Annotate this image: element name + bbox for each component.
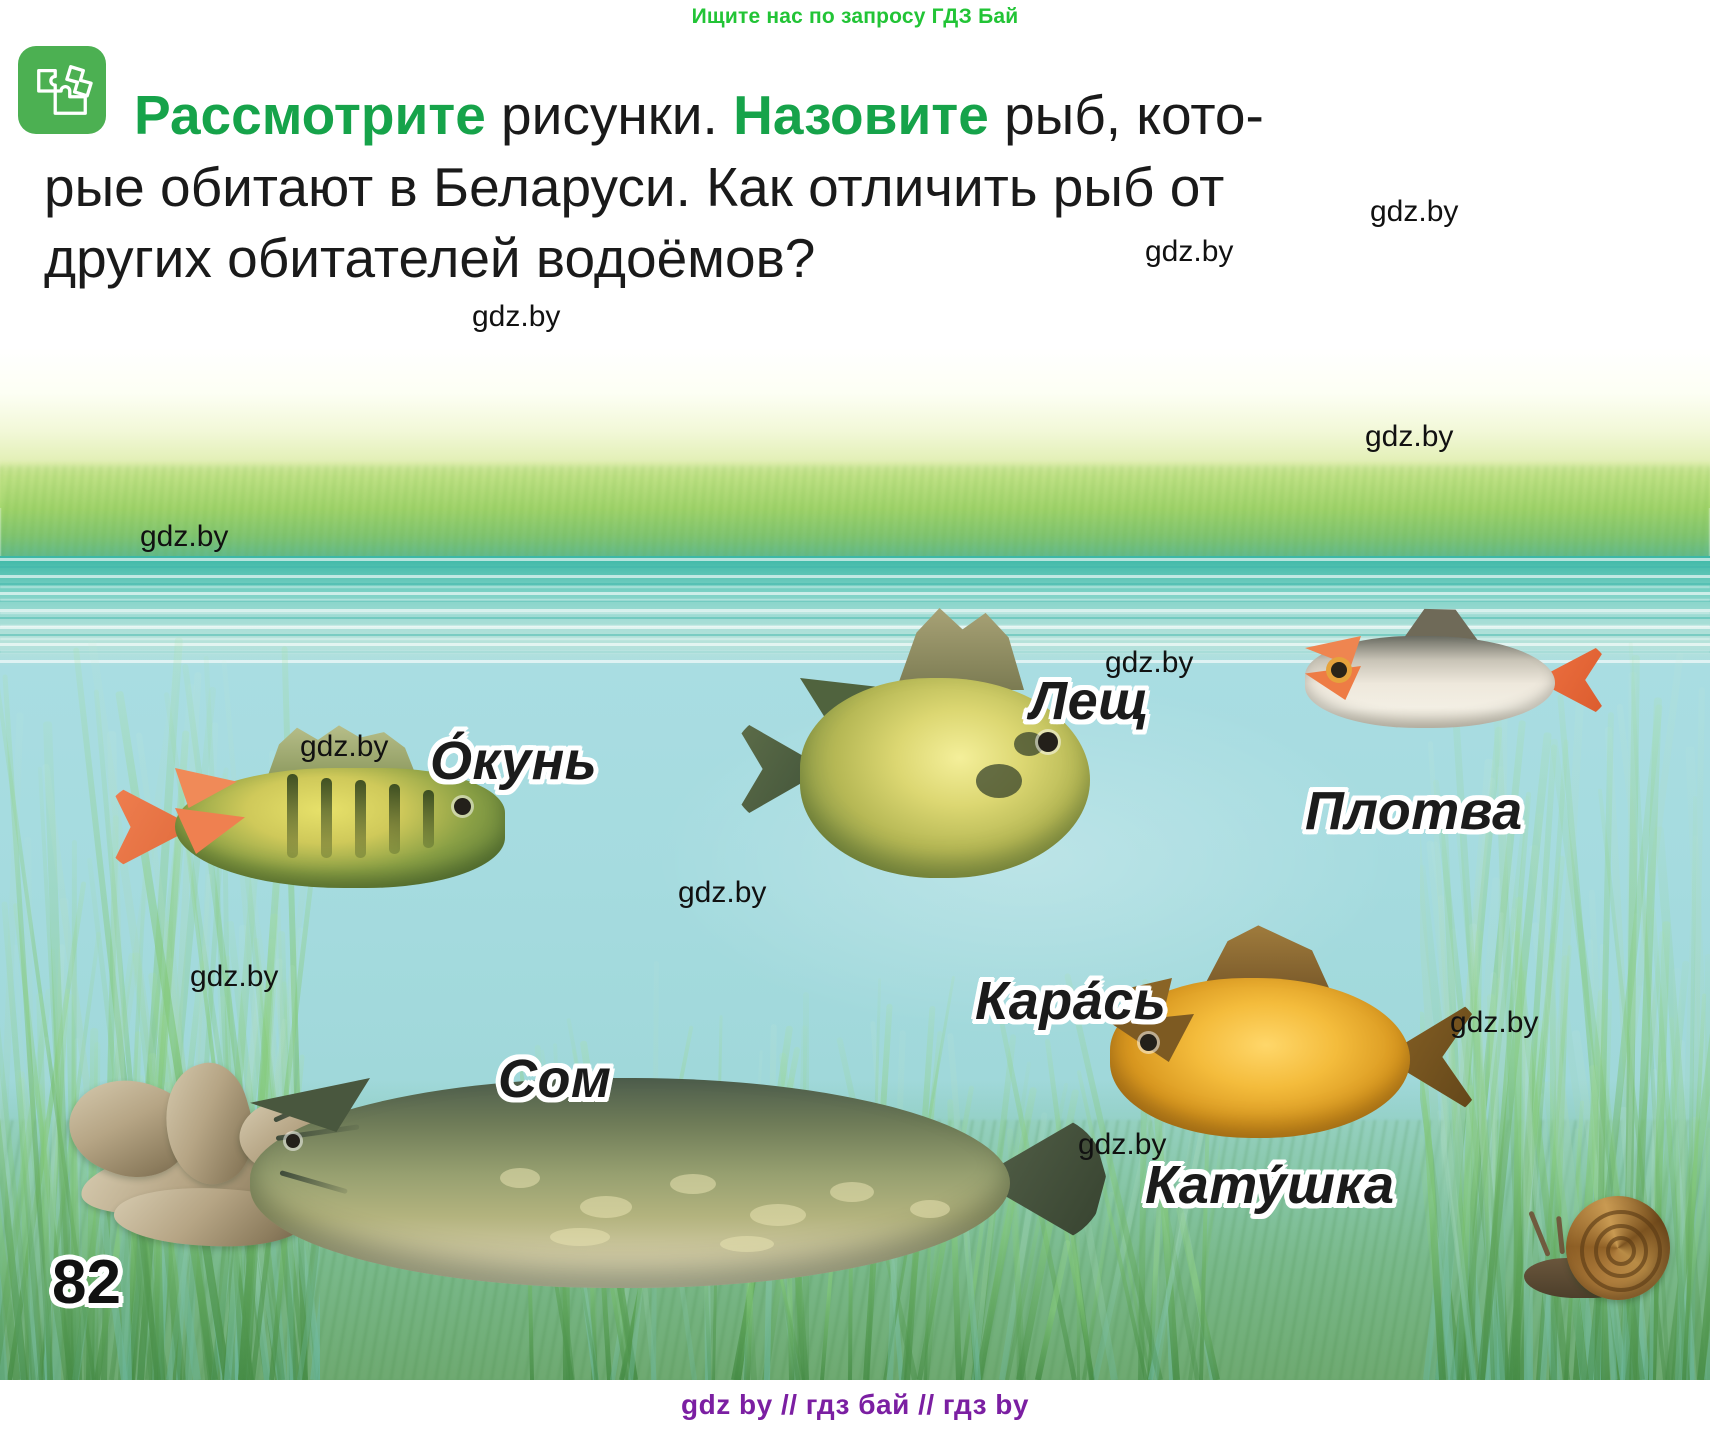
watermark: gdz.by [190, 960, 278, 994]
snail-katushka [1520, 1180, 1670, 1300]
promo-banner: Ищите нас по запросу ГДЗ Бай [0, 0, 1710, 34]
label-perch: О́кунь [430, 730, 597, 792]
watermark: gdz.by [1105, 646, 1193, 680]
promo-text: Ищите нас по запросу ГДЗ Бай [692, 5, 1019, 29]
task-line-3: других обитателей водоёмов? [44, 227, 815, 289]
bream-eye [1038, 732, 1058, 752]
task-block: Рассмотрите рисунки. Назовите рыб, кото-… [0, 38, 1710, 298]
task-keyword-2: Назовите [733, 84, 989, 146]
watermark: gdz.by [1370, 195, 1458, 229]
snail-shell [1566, 1196, 1670, 1300]
watermark: gdz.by [678, 876, 766, 910]
watermark: gdz.by [1450, 1006, 1538, 1040]
fish-roach [1305, 636, 1555, 728]
task-rest-1: рыб, кото- [989, 84, 1264, 146]
task-keyword-1: Рассмотрите [134, 84, 486, 146]
watermark: gdz.by [1365, 420, 1453, 454]
watermark: gdz.by [1145, 235, 1233, 269]
textbook-page: Ищите нас по запросу ГДЗ Бай Рассмотрите… [0, 0, 1710, 1430]
footer-banner: gdz by // гдз бай // гдз by [0, 1380, 1710, 1430]
footer-text: gdz by // гдз бай // гдз by [681, 1389, 1029, 1421]
fish-catfish [250, 1078, 1010, 1288]
snail-tentacle [1528, 1211, 1551, 1257]
catfish-body [250, 1078, 1010, 1288]
page-number: 82 [52, 1247, 121, 1318]
watermark: gdz.by [1078, 1128, 1166, 1162]
reed-blade [1705, 954, 1710, 1380]
crucian-eye [1140, 1034, 1157, 1051]
label-roach: Плотва [1305, 780, 1523, 842]
catfish-eye [286, 1134, 300, 1148]
task-line-2: рые обитают в Беларуси. Как отличить рыб… [44, 156, 1224, 218]
task-text: Рассмотрите рисунки. Назовите рыб, кото-… [44, 80, 1684, 295]
label-catfish: Сом [498, 1048, 611, 1110]
roach-eye [1331, 662, 1347, 678]
label-snail: Кату́шка [1145, 1154, 1395, 1216]
label-crucian: Кара́сь [975, 970, 1166, 1032]
perch-eye [454, 798, 471, 815]
watermark: gdz.by [300, 730, 388, 764]
snail-tentacle [1556, 1216, 1565, 1254]
task-mid-1: рисунки. [486, 84, 733, 146]
pond-illustration: О́кунь Лещ Плотва Кара́сь Сом Кату́шка g… [0, 348, 1710, 1380]
watermark: gdz.by [472, 300, 560, 334]
far-bank-grass-texture [0, 466, 1710, 562]
watermark: gdz.by [140, 520, 228, 554]
